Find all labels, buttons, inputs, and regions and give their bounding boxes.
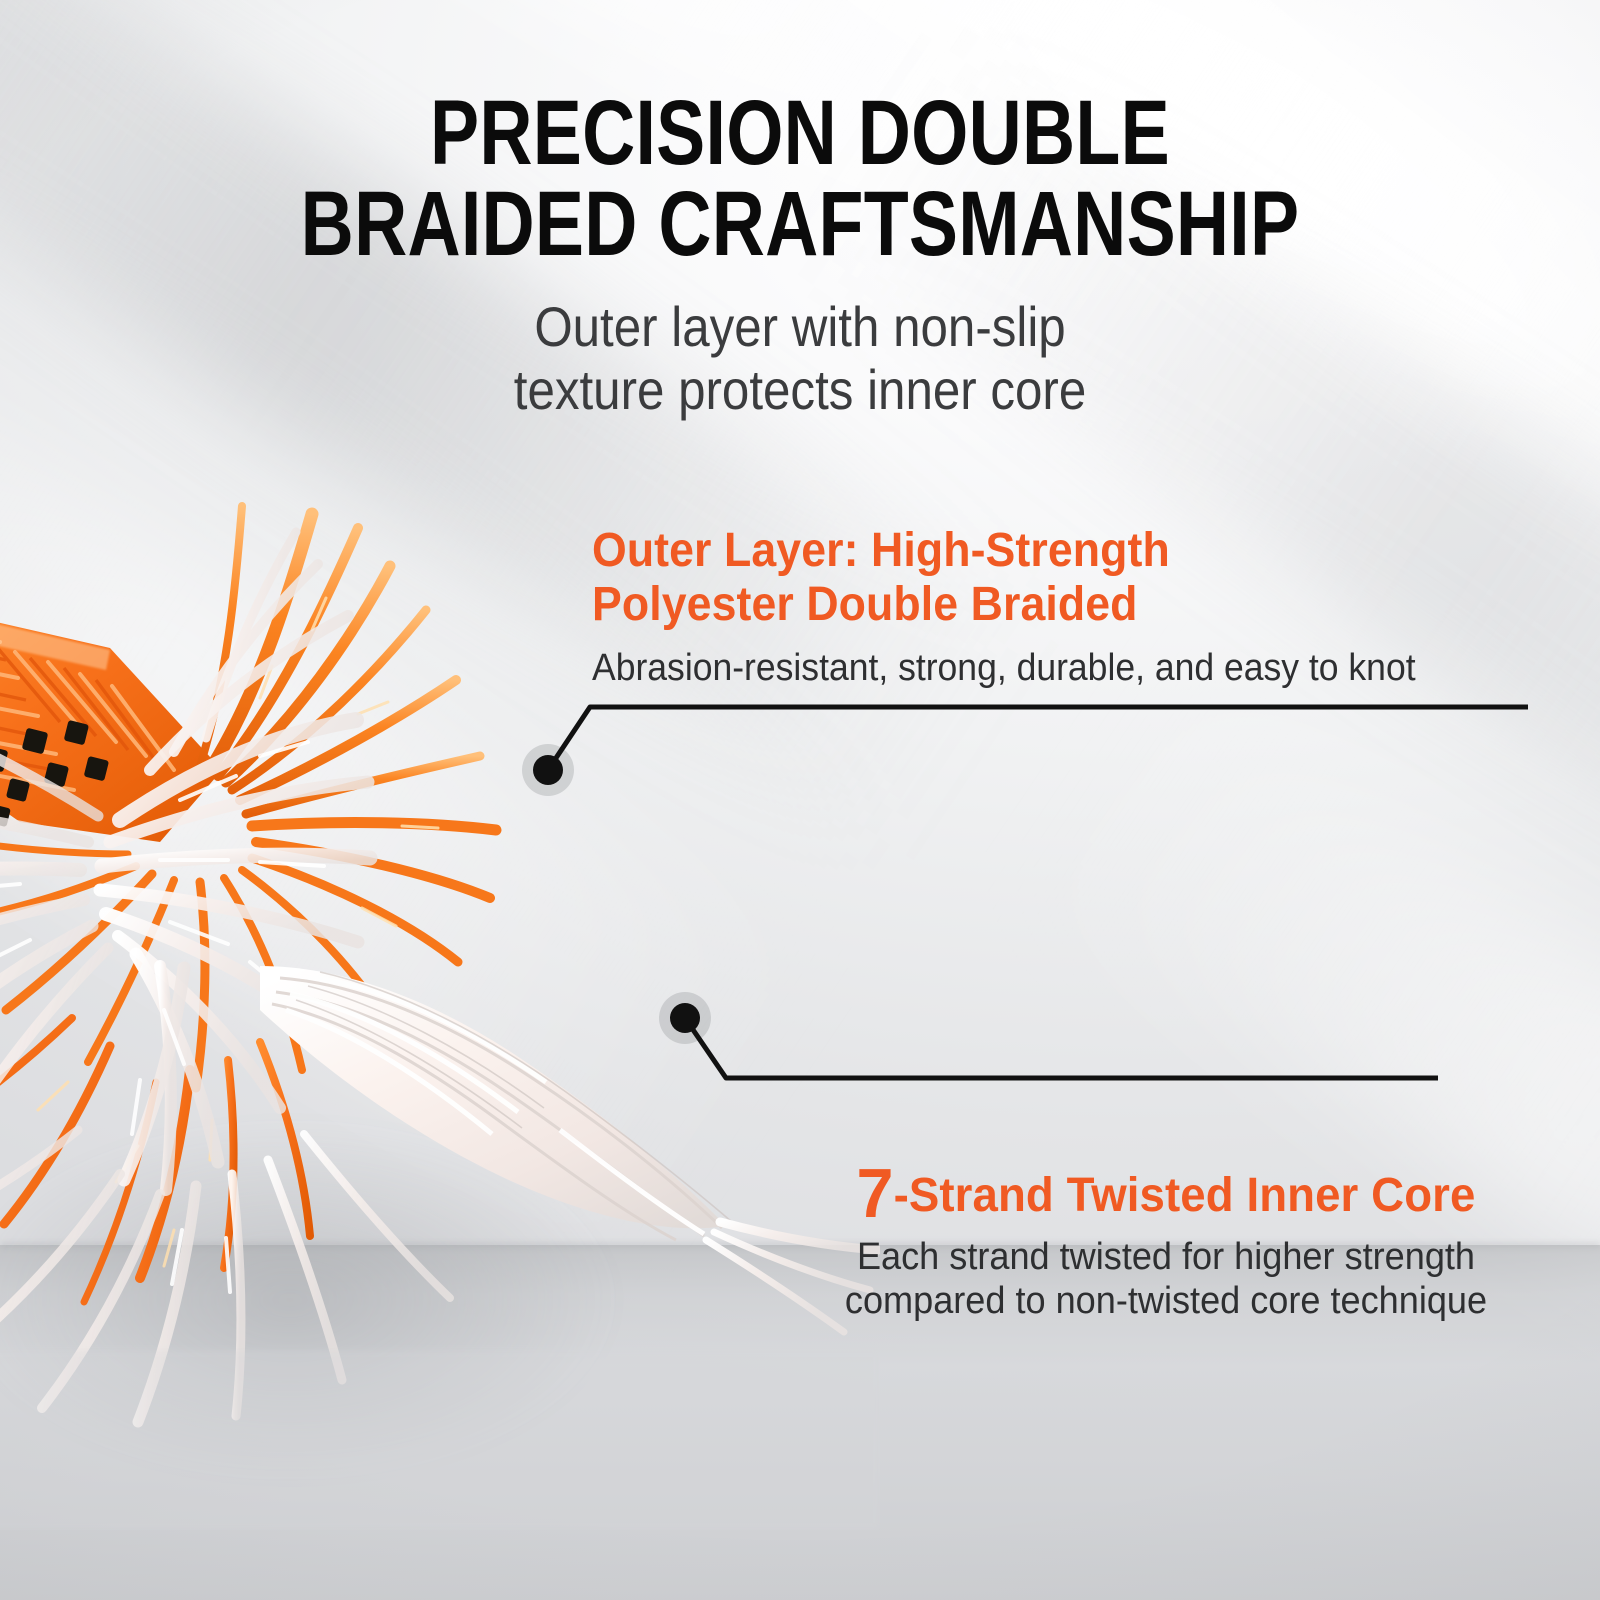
callout-inner-core-heading: 7-Strand Twisted Inner Core — [758, 1110, 1575, 1225]
callout-outer-layer: Outer Layer: High-Strength Polyester Dou… — [592, 524, 1552, 691]
infographic-canvas: PRECISION DOUBLE BRAIDED CRAFTSMANSHIP O… — [0, 0, 1600, 1600]
page-title: PRECISION DOUBLE BRAIDED CRAFTSMANSHIP — [160, 88, 1440, 270]
callout-outer-layer-heading: Outer Layer: High-Strength Polyester Dou… — [592, 524, 1485, 632]
page-subtitle: Outer layer with non-slip texture protec… — [96, 296, 1504, 421]
callout-inner-core-heading-rest: -Strand Twisted Inner Core — [894, 1169, 1476, 1222]
callout-outer-layer-description: Abrasion-resistant, strong, durable, and… — [592, 646, 1490, 691]
callout-inner-core-description: Each strand twisted for higher strength … — [758, 1235, 1575, 1324]
callout-inner-core: 7-Strand Twisted Inner Core Each strand … — [736, 1110, 1596, 1324]
callout-inner-core-strand-count: 7 — [857, 1154, 894, 1232]
